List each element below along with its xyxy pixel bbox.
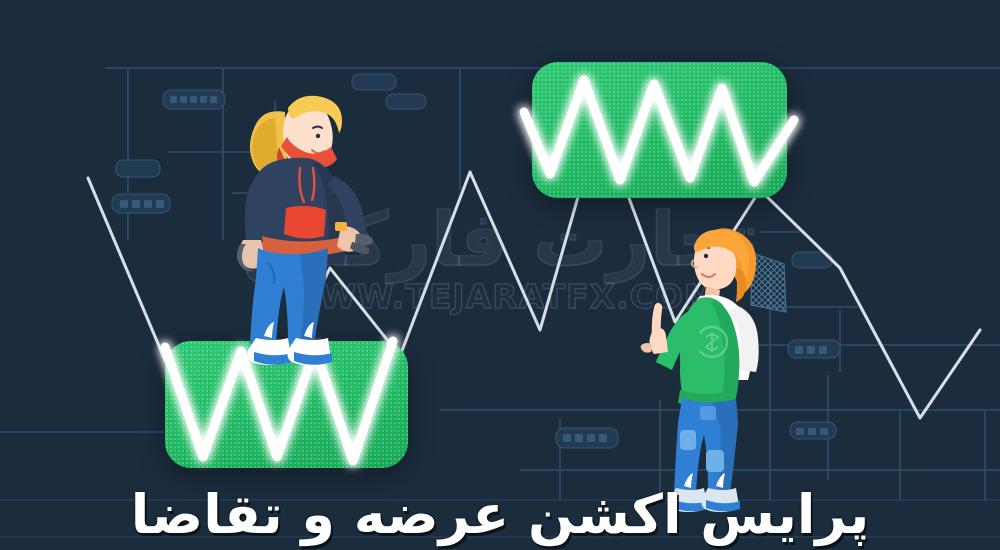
poster-canvas: تجارت فارکس WWW.TEJARATFX.COM (0, 0, 1000, 550)
page-title: پرایس اکشن عرضه و تقاضا (0, 487, 1000, 544)
page-title-text: پرایس اکشن عرضه و تقاضا (131, 487, 870, 544)
character-right-pointing (0, 0, 1000, 550)
